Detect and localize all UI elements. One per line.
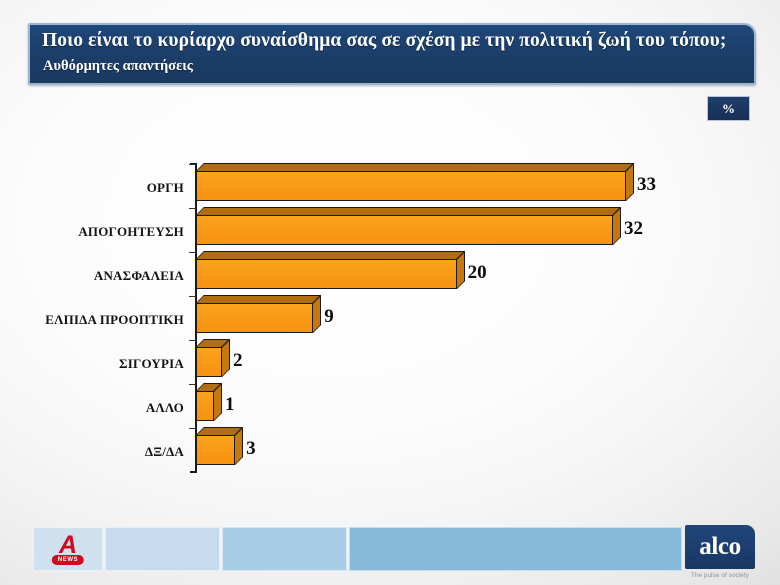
bar [196,427,235,465]
bar-value-label: 9 [324,306,334,328]
bar-front-face [196,347,222,377]
axis-cap-bottom [190,471,197,473]
bar-top-face [196,163,634,171]
bar-row: ΑΠΟΓΟΗΤΕΥΣΗ32 [0,207,780,251]
bar-category-label: ΑΝΑΣΦΑΛΕΙΑ [0,268,184,284]
bar-row: ΑΝΑΣΦΑΛΕΙΑ20 [0,251,780,295]
bar-side-face [457,251,465,289]
bar-top-face [196,251,465,259]
bar-chart: ΟΡΓΗ33ΑΠΟΓΟΗΤΕΥΣΗ32ΑΝΑΣΦΑΛΕΙΑ20ΕΛΠΙΔΑ ΠΡ… [0,150,780,485]
bar-row: ΕΛΠΙΔΑ ΠΡΟΟΠΤΙΚΗ9 [0,295,780,339]
bar [196,383,214,421]
bar-front-face [196,259,457,289]
axis-tick [189,164,195,165]
bar-value-label: 2 [233,350,243,372]
bar-front-face [196,435,235,465]
bar-row: ΟΡΓΗ33 [0,163,780,207]
bar-category-label: ΕΛΠΙΔΑ ΠΡΟΟΠΤΙΚΗ [0,312,184,328]
bar [196,207,613,245]
bar-side-face [235,427,243,465]
bar-top-face [196,295,321,303]
bar-side-face [626,163,634,201]
alco-tagline: The pulse of society [685,572,755,579]
bar-category-label: ΟΡΓΗ [0,180,184,196]
bar-front-face [196,391,214,421]
bar-category-label: ΑΠΟΓΟΗΤΕΥΣΗ [0,224,184,240]
axis-tick [189,428,195,429]
alpha-news-logo: A NEWS [33,527,103,571]
alpha-news-badge: NEWS [52,555,84,565]
footer-bar: A NEWS alco The pulse of society [0,520,780,585]
bar [196,295,313,333]
bar-front-face [196,303,313,333]
page-title: Ποιο είναι το κυρίαρχο συναίσθημα σας σε… [42,30,726,52]
bar-side-face [214,383,222,421]
axis-tick [189,384,195,385]
bar-category-label: ΣΙΓΟΥΡΙΑ [0,356,184,372]
bar-row: ΔΞ/ΔΑ3 [0,427,780,471]
bar-value-label: 32 [624,218,643,240]
percent-unit-badge: % [707,96,750,121]
axis-tick [189,296,195,297]
bar [196,163,626,201]
bar-side-face [313,295,321,333]
alco-logo: alco [685,525,755,569]
slide-canvas: Ποιο είναι το κυρίαρχο συναίσθημα σας σε… [0,0,780,585]
footer-segment [349,527,682,571]
bar-front-face [196,171,626,201]
bar-value-label: 33 [637,174,656,196]
bar-top-face [196,207,621,215]
bar-side-face [222,339,230,377]
axis-tick [189,340,195,341]
bar-value-label: 3 [246,438,256,460]
axis-tick [189,252,195,253]
bar [196,339,222,377]
page-subtitle: Αυθόρμητες απαντήσεις [43,58,193,75]
alco-logo-text: alco [699,534,740,559]
header-banner: Ποιο είναι το κυρίαρχο συναίσθημα σας σε… [28,23,756,85]
bar-category-label: ΔΞ/ΔΑ [0,444,184,460]
bar-category-label: ΑΛΛΟ [0,400,184,416]
axis-tick [189,208,195,209]
bar-row: ΑΛΛΟ1 [0,383,780,427]
bar-row: ΣΙΓΟΥΡΙΑ2 [0,339,780,383]
bar-value-label: 20 [468,262,487,284]
bar-front-face [196,215,613,245]
footer-segment [222,527,347,571]
bar-side-face [613,207,621,245]
bar [196,251,457,289]
bar-value-label: 1 [225,394,235,416]
footer-segment [105,527,220,571]
